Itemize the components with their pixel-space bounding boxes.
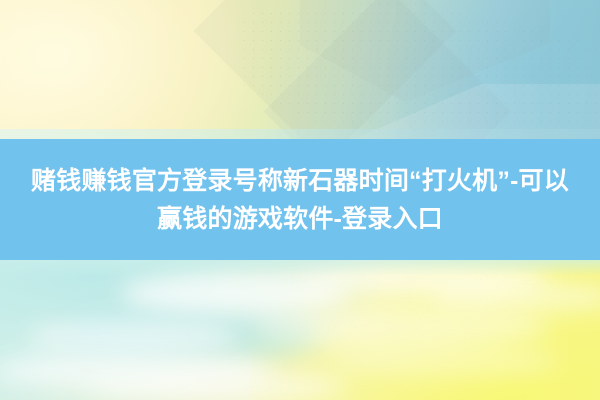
band-bottom-streak bbox=[0, 129, 600, 139]
title-banner: 赌钱赚钱官方登录号称新石器时间“打火机”-可以 赢钱的游戏软件-登录入口 bbox=[0, 139, 600, 260]
cloud-wisp bbox=[330, 344, 560, 378]
bottom-sky-section bbox=[0, 260, 600, 400]
title-line-1: 赌钱赚钱官方登录号称新石器时间“打火机”-可以 bbox=[31, 162, 569, 200]
sky-top-fade bbox=[0, 260, 600, 276]
title-line-2: 赢钱的游戏软件-登录入口 bbox=[157, 200, 443, 238]
cloud-wisp bbox=[250, 306, 550, 348]
cloud-wisp bbox=[88, 372, 348, 400]
banner-graphic: 赌钱赚钱官方登录号称新石器时间“打火机”-可以 赢钱的游戏软件-登录入口 bbox=[0, 0, 600, 400]
top-decorative-band bbox=[0, 0, 600, 139]
cloud-wisp bbox=[30, 318, 240, 354]
